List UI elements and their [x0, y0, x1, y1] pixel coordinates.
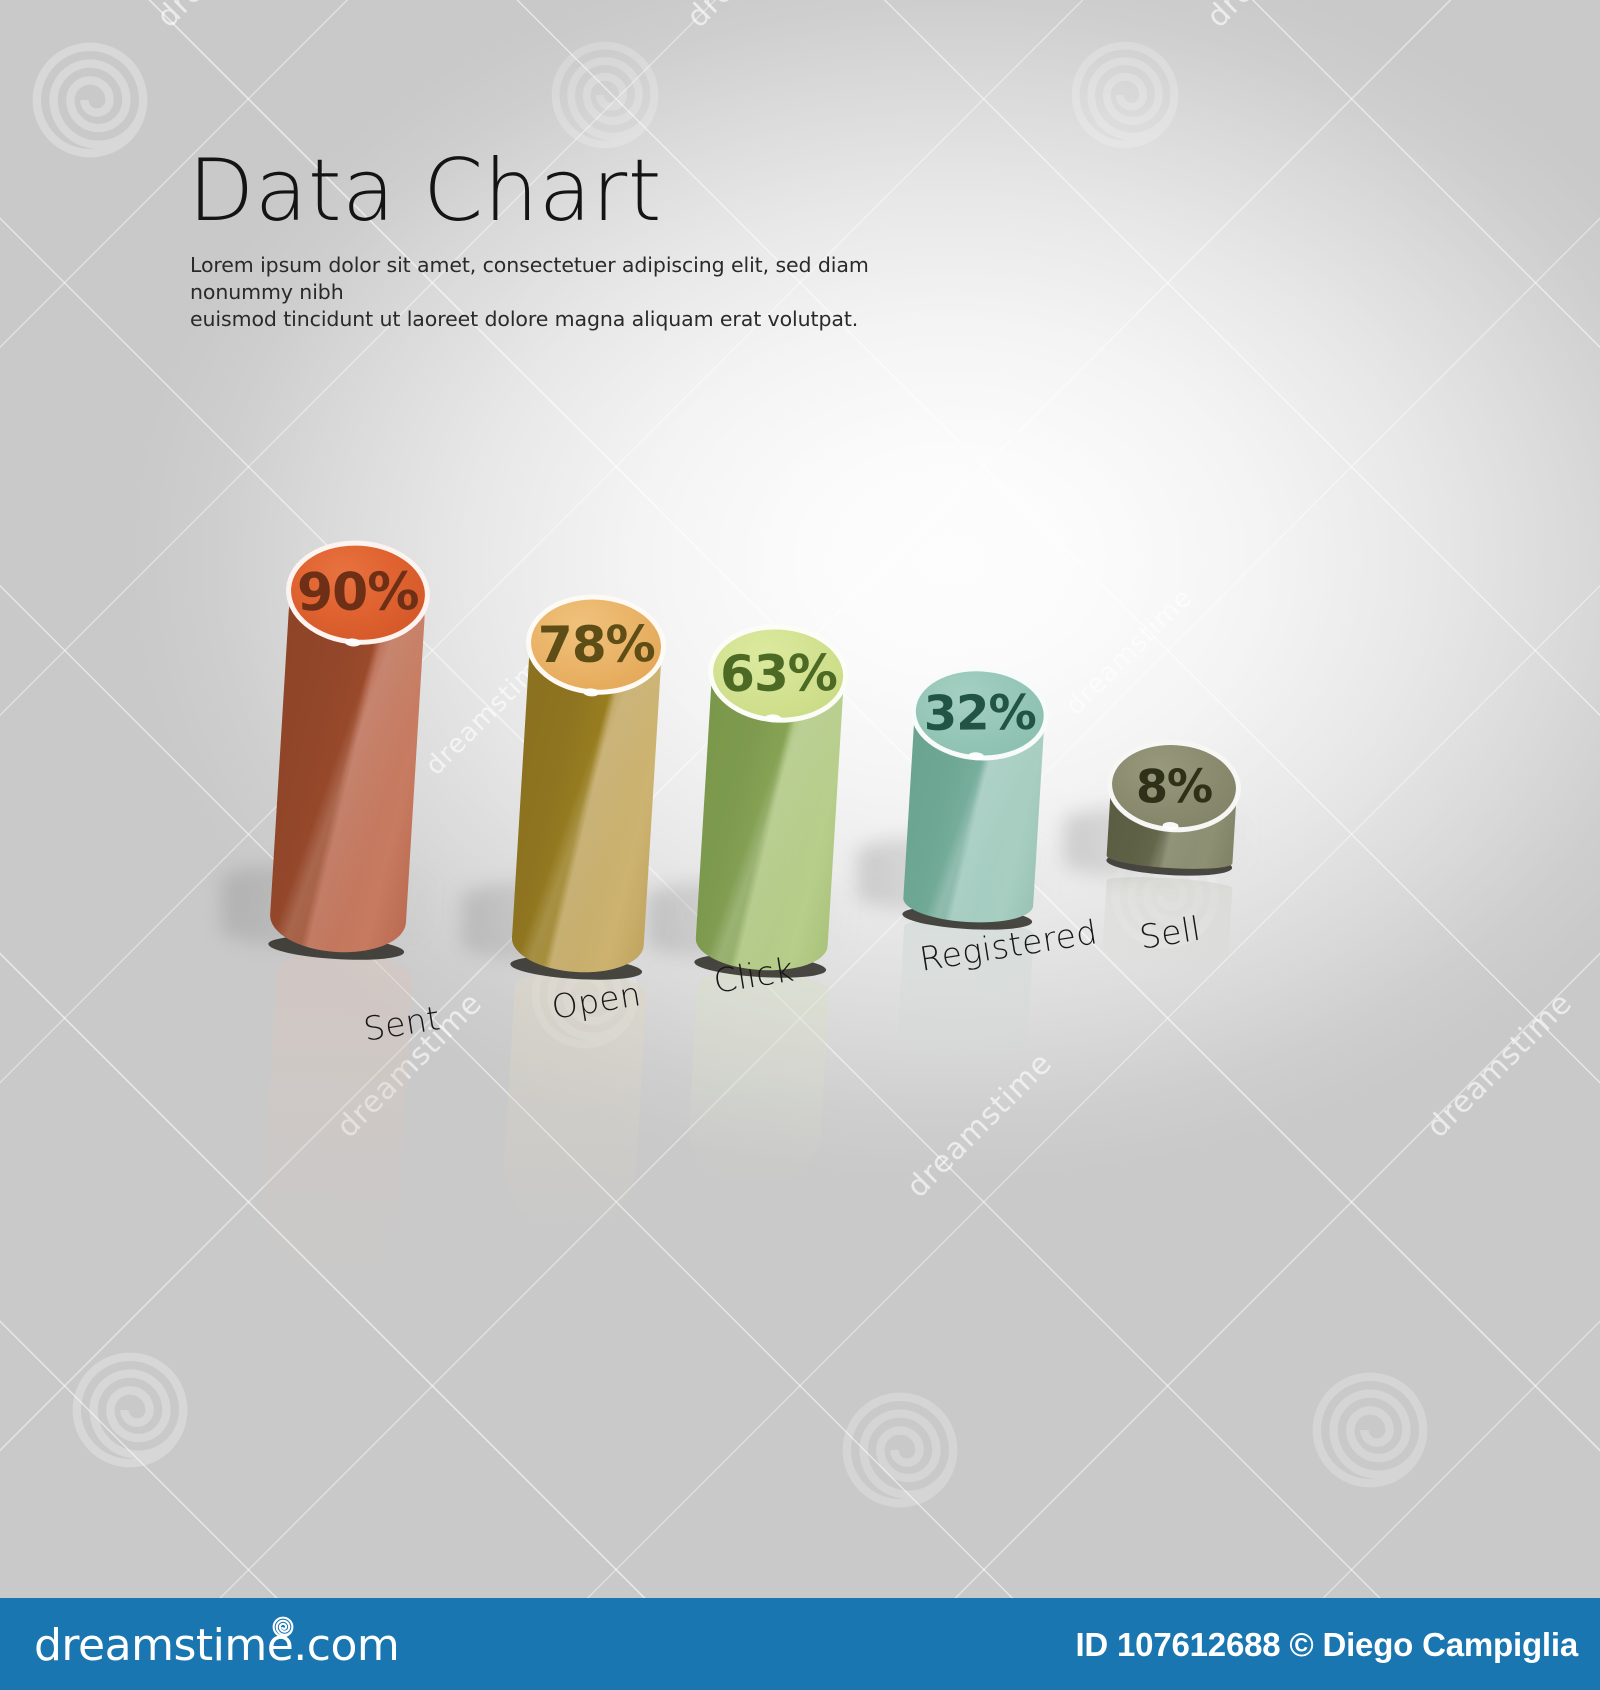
dreamstime-spiral-icon [270, 1614, 296, 1640]
bar-reflection-sent [258, 948, 414, 1286]
bar-value-label: 32% [924, 685, 1036, 742]
poster-canvas: dreamstime dreamstime dreamstime dreamst… [0, 0, 1600, 1690]
image-credit: ID 107612688 © Diego Campiglia [1075, 1626, 1578, 1664]
bar-cylinder-sent[interactable]: 90% [268, 577, 426, 957]
bar-value-label: 78% [537, 615, 654, 674]
bar-cylinder-open[interactable]: 78% [510, 629, 663, 976]
bar-reflection-click [686, 968, 831, 1191]
bar-cylinder-click[interactable]: 63% [694, 657, 845, 974]
footer-bar: dreamstime.com ID 107612688 © Diego Camp… [0, 1598, 1600, 1690]
bar-value-label: 90% [297, 562, 419, 623]
bar-chart: 90% Sent 78% Open [0, 0, 1600, 1690]
bar-cylinder-sell[interactable]: 8% [1106, 768, 1238, 872]
bar-cylinder-registered[interactable]: 32% [902, 696, 1045, 926]
bar-value-label: 63% [720, 644, 837, 703]
bar-value-label: 8% [1136, 759, 1213, 814]
dreamstime-logo[interactable]: dreamstime.com [34, 1624, 399, 1668]
